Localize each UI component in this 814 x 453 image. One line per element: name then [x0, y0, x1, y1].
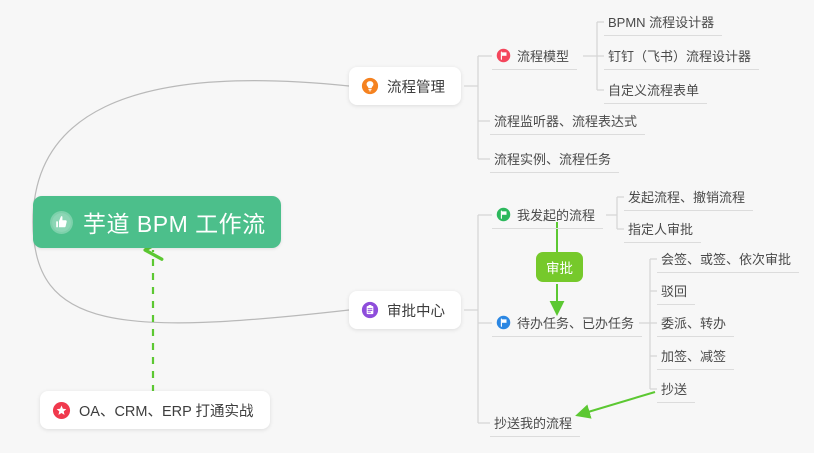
node-process-listener-expression-label: 流程监听器、流程表达式 [494, 111, 637, 130]
node-cc-label: 抄送 [661, 379, 687, 398]
node-cc[interactable]: 抄送 [657, 375, 695, 403]
node-cc-to-me-processes-label: 抄送我的流程 [494, 413, 572, 432]
node-add-remove-sign-label: 加签、减签 [661, 346, 726, 365]
flag-icon [496, 315, 511, 330]
node-bpmn-designer[interactable]: BPMN 流程设计器 [604, 8, 722, 36]
node-process-listener-expression[interactable]: 流程监听器、流程表达式 [490, 107, 645, 135]
node-reject[interactable]: 驳回 [657, 277, 695, 305]
root-node[interactable]: 芋道 BPM 工作流 [33, 196, 281, 248]
flag-icon [496, 48, 511, 63]
node-process-model[interactable]: 流程模型 [492, 42, 577, 70]
clipboard-icon [361, 301, 379, 319]
cc-link-arrow [578, 392, 655, 415]
node-todo-done-tasks-label: 待办任务、已办任务 [517, 313, 634, 332]
node-oa-crm-erp-label: OA、CRM、ERP 打通实战 [79, 400, 254, 421]
node-process-instance-task[interactable]: 流程实例、流程任务 [490, 145, 619, 173]
approval-badge[interactable]: 审批 [536, 252, 583, 282]
root-label: 芋道 BPM 工作流 [83, 205, 266, 239]
node-start-cancel-process-label: 发起流程、撤销流程 [628, 187, 745, 206]
node-delegate-transfer-label: 委派、转办 [661, 313, 726, 332]
node-my-initiated-processes-label: 我发起的流程 [517, 205, 595, 224]
node-my-initiated-processes[interactable]: 我发起的流程 [492, 201, 603, 229]
approval-badge-label: 审批 [546, 257, 573, 277]
node-assignee-approval-label: 指定人审批 [628, 219, 693, 238]
thumbs-up-icon [49, 210, 74, 235]
node-custom-process-form[interactable]: 自定义流程表单 [604, 76, 707, 104]
link-approval-center-spine [464, 215, 492, 423]
node-bpmn-designer-label: BPMN 流程设计器 [608, 12, 714, 31]
node-assignee-approval[interactable]: 指定人审批 [624, 215, 701, 243]
flag-icon [496, 207, 511, 222]
node-add-remove-sign[interactable]: 加签、减签 [657, 342, 734, 370]
branch-process-management-label: 流程管理 [387, 76, 445, 97]
node-custom-process-form-label: 自定义流程表单 [608, 80, 699, 99]
branch-process-management[interactable]: 流程管理 [349, 67, 461, 105]
link-process-management-spine [464, 56, 492, 159]
node-delegate-transfer[interactable]: 委派、转办 [657, 309, 734, 337]
link-my-initiated-spine [606, 197, 624, 229]
node-process-instance-task-label: 流程实例、流程任务 [494, 149, 611, 168]
node-todo-done-tasks[interactable]: 待办任务、已办任务 [492, 309, 642, 337]
node-oa-crm-erp[interactable]: OA、CRM、ERP 打通实战 [40, 391, 270, 429]
node-start-cancel-process[interactable]: 发起流程、撤销流程 [624, 183, 753, 211]
star-icon [52, 401, 71, 420]
link-process-model-spine [583, 22, 604, 90]
node-reject-label: 驳回 [661, 281, 687, 300]
lightbulb-icon [361, 77, 379, 95]
node-cc-to-me-processes[interactable]: 抄送我的流程 [490, 409, 580, 437]
node-dingtalk-feishu-designer-label: 钉钉（飞书）流程设计器 [608, 46, 751, 65]
branch-approval-center-label: 审批中心 [387, 300, 445, 321]
node-countersign-or-sequential-label: 会签、或签、依次审批 [661, 249, 791, 268]
node-dingtalk-feishu-designer[interactable]: 钉钉（飞书）流程设计器 [604, 42, 759, 70]
branch-approval-center[interactable]: 审批中心 [349, 291, 461, 329]
node-countersign-or-sequential[interactable]: 会签、或签、依次审批 [657, 245, 799, 273]
mindmap-canvas: 芋道 BPM 工作流 流程管理 流程模型 BPMN 流程设计器 钉 [0, 0, 814, 453]
node-process-model-label: 流程模型 [517, 46, 569, 65]
